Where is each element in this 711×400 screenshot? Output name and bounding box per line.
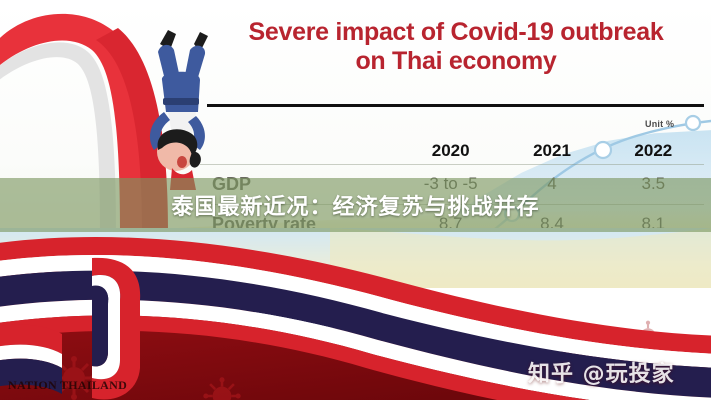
title-divider xyxy=(207,104,704,107)
table-separator xyxy=(200,164,704,165)
column-header-2022: 2022 xyxy=(603,141,704,161)
headline-line-1: Severe impact of Covid-19 outbreak xyxy=(249,18,664,46)
overlay-title-cn: 泰国最新近况：经济复苏与挑战并存 xyxy=(0,178,711,232)
unit-label: Unit % xyxy=(645,119,674,129)
column-header-2020: 2020 xyxy=(400,141,501,161)
table-header-row: 2020 2021 2022 xyxy=(200,138,704,164)
nation-thailand-logo: NATION THAILAND xyxy=(8,378,127,393)
page-title: Severe impact of Covid-19 outbreak on Th… xyxy=(210,18,702,75)
headline-line-2: on Thai economy xyxy=(210,47,702,76)
infographic-screenshot: Severe impact of Covid-19 outbreak on Th… xyxy=(0,0,711,400)
zhihu-watermark: 知乎 @玩投家 xyxy=(528,356,675,388)
column-header-2021: 2021 xyxy=(501,141,602,161)
